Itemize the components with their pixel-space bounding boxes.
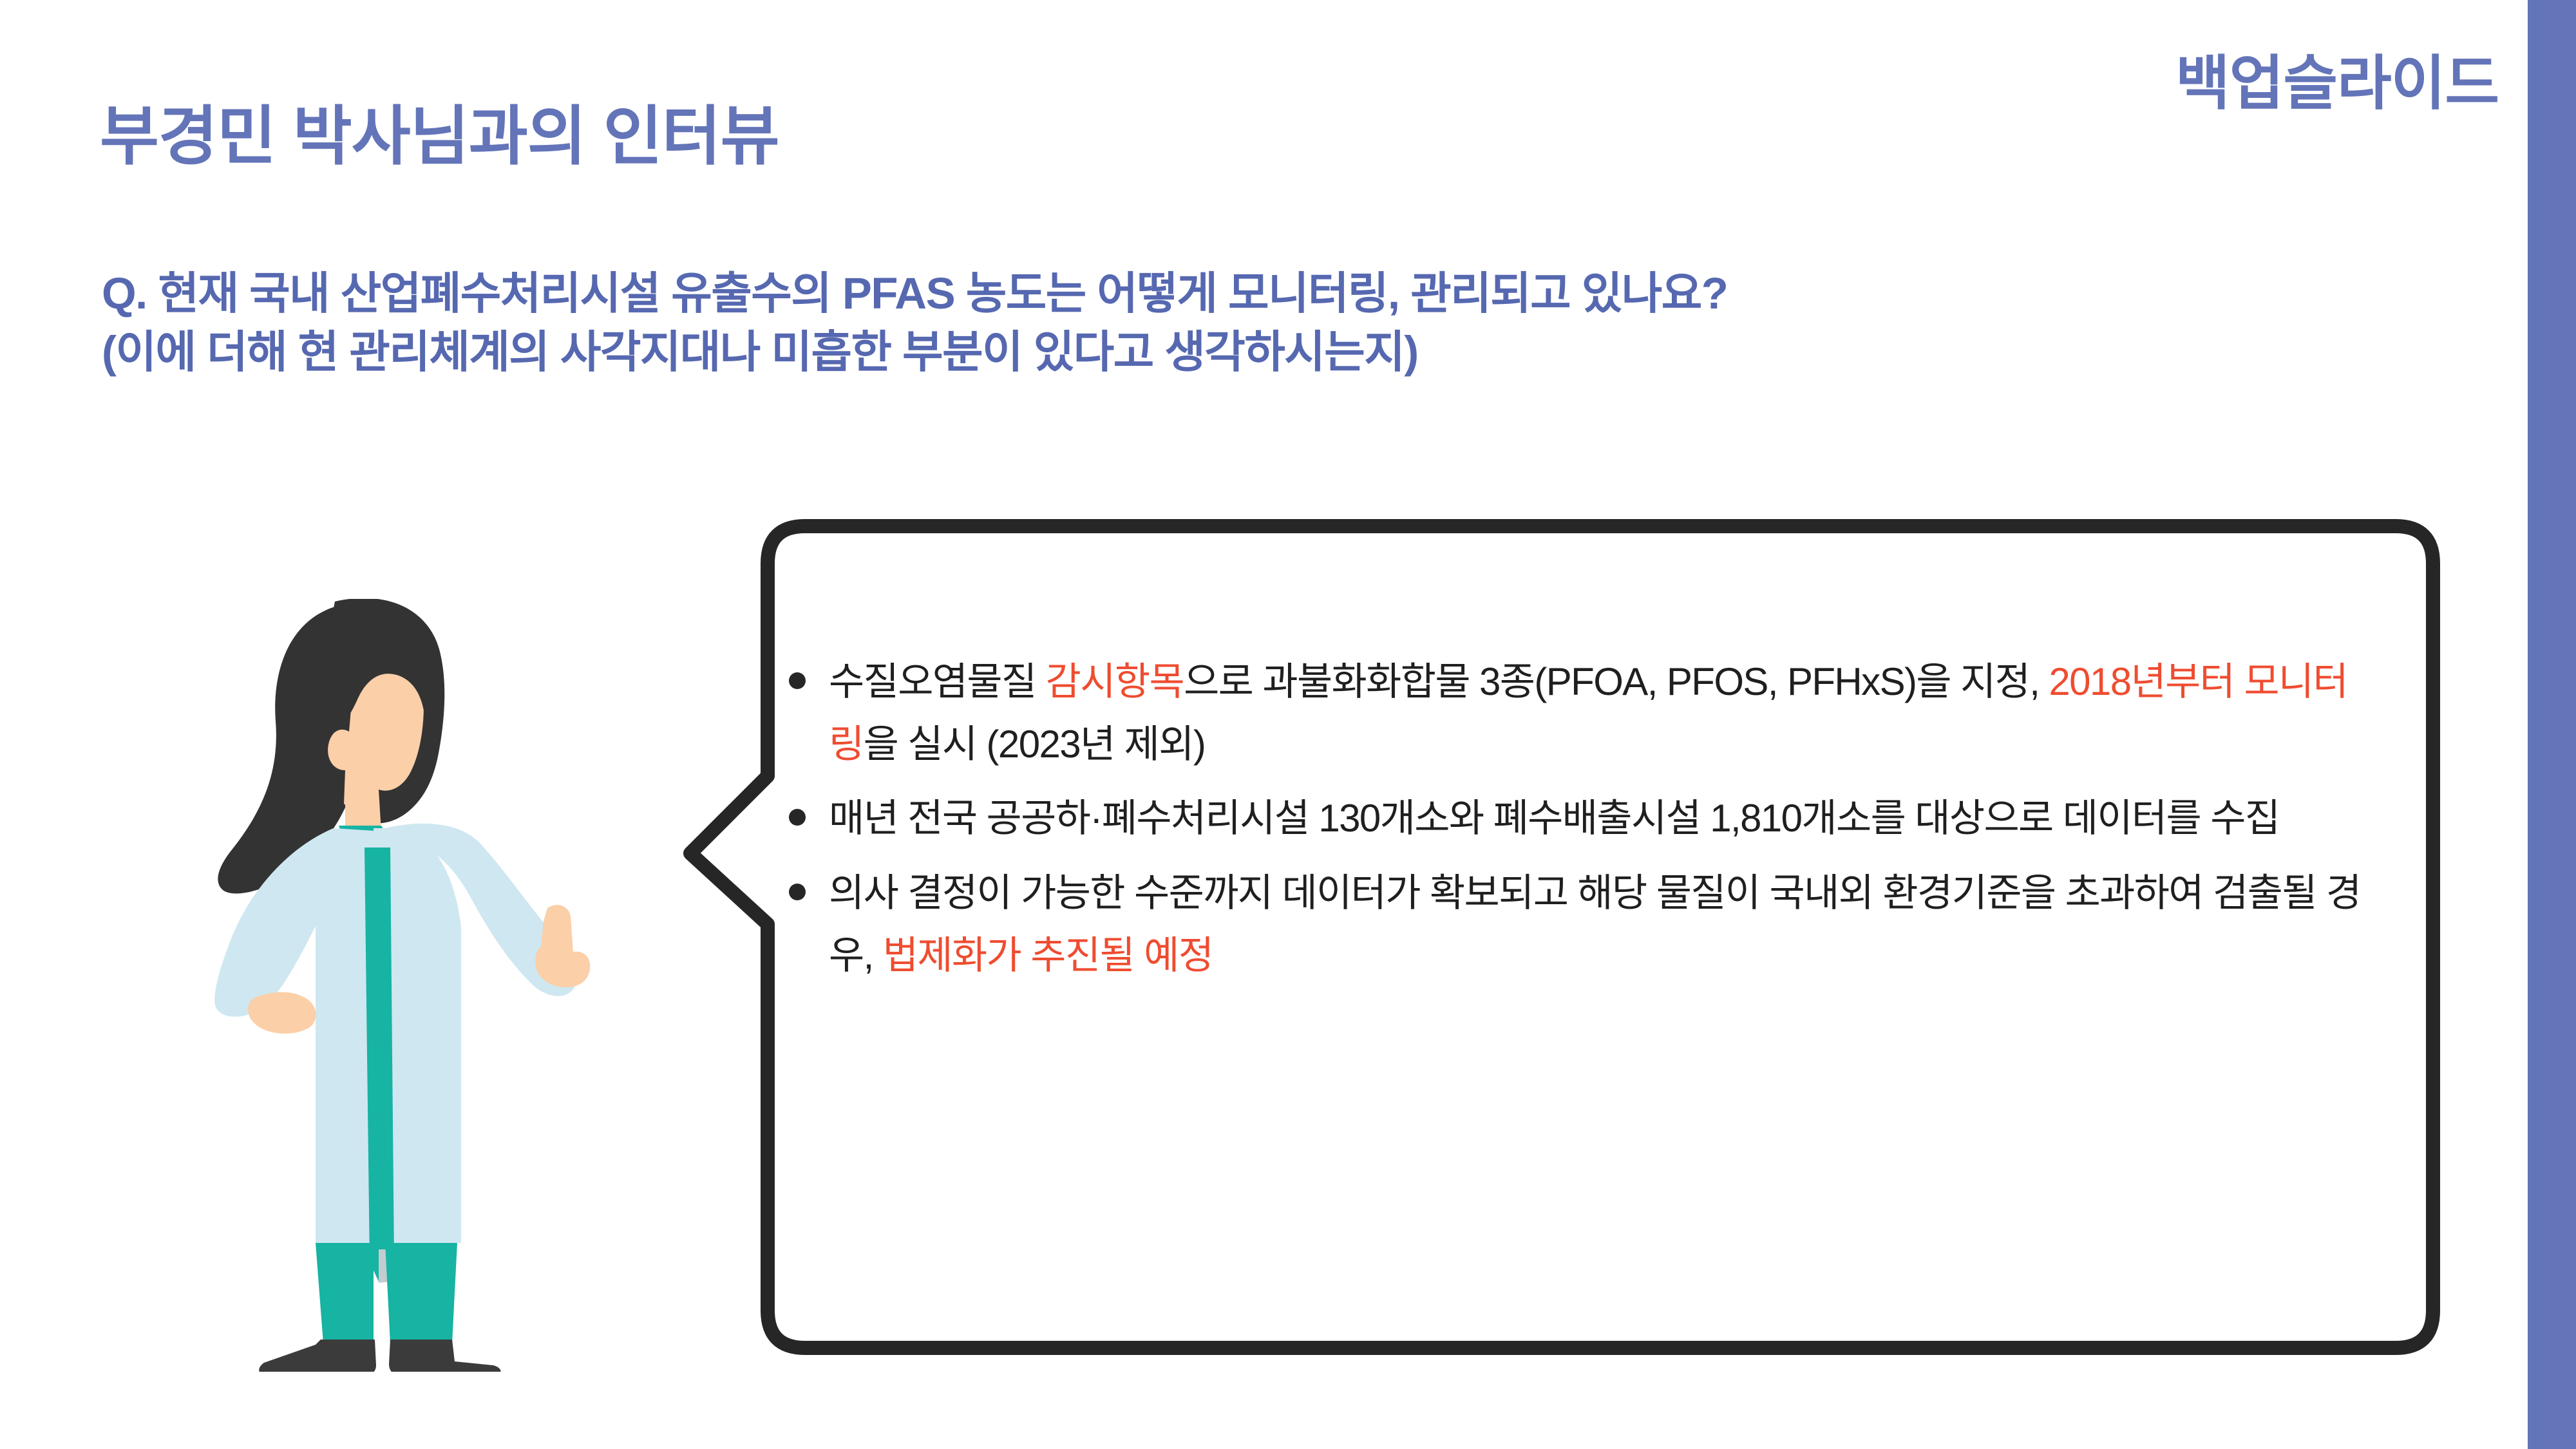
bullet-dot-icon xyxy=(789,884,806,900)
bullet-text-2: 매년 전국 공공하·폐수처리시설 130개소와 폐수배출시설 1,810개소를 … xyxy=(829,787,2373,849)
highlighted-phrase: 감시항목 xyxy=(1046,660,1184,703)
bullet-text-1: 수질오염물질 감시항목으로 과불화화합물 3종(PFOA, PFOS, PFHx… xyxy=(829,650,2373,775)
plain-phrase: 을 실시 (2023년 제외) xyxy=(864,723,1206,766)
plain-phrase: 으로 과불화화합물 3종(PFOA, PFOS, PFHxS)을 지정, xyxy=(1184,660,2049,703)
bullet-dot-icon xyxy=(789,672,806,689)
backup-slide-label: 백업슬라이드 xyxy=(2175,35,2499,121)
right-shoe-shape xyxy=(389,1340,501,1372)
left-shoe-shape xyxy=(259,1340,376,1372)
slide-canvas: 부경민 박사님과의 인터뷰 백업슬라이드 Q. 현재 국내 산업폐수처리시설 유… xyxy=(0,0,2576,1449)
bubble-bullet-list: 수질오염물질 감시항목으로 과불화화합물 3종(PFOA, PFOS, PFHx… xyxy=(789,650,2373,998)
speech-bubble: 수질오염물질 감시항목으로 과불화화합물 3종(PFOA, PFOS, PFHx… xyxy=(683,518,2441,1356)
highlighted-phrase: 법제화가 추진될 예정 xyxy=(883,934,1213,977)
plain-phrase: 매년 전국 공공하·폐수처리시설 130개소와 폐수배출시설 1,810개소를 … xyxy=(829,797,2279,840)
plain-phrase: 수질오염물질 xyxy=(829,660,1046,703)
question-line-2: (이에 더해 현 관리체계의 사각지대나 미흡한 부분이 있다고 생각하시는지) xyxy=(102,323,1727,381)
scientist-illustration xyxy=(213,599,612,1372)
bullet-dot-icon xyxy=(789,809,806,826)
list-item: 수질오염물질 감시항목으로 과불화화합물 3종(PFOA, PFOS, PFHx… xyxy=(789,650,2373,775)
right-trouser-shape xyxy=(385,1243,457,1343)
list-item: 의사 결정이 가능한 수준까지 데이터가 확보되고 해당 물질이 국내외 환경기… xyxy=(789,862,2373,987)
question-block: Q. 현재 국내 산업폐수처리시설 유출수의 PFAS 농도는 어떻게 모니터링… xyxy=(102,264,1727,381)
right-hand-pointing-shape xyxy=(535,905,590,987)
right-accent-bar xyxy=(2528,0,2576,1449)
page-title: 부경민 박사님과의 인터뷰 xyxy=(100,84,779,177)
left-trouser-shape xyxy=(316,1243,374,1343)
left-hand-shape xyxy=(248,992,316,1034)
list-item: 매년 전국 공공하·폐수처리시설 130개소와 폐수배출시설 1,810개소를 … xyxy=(789,787,2373,849)
bullet-text-3: 의사 결정이 가능한 수준까지 데이터가 확보되고 해당 물질이 국내외 환경기… xyxy=(829,862,2373,987)
question-line-1: Q. 현재 국내 산업폐수처리시설 유출수의 PFAS 농도는 어떻게 모니터링… xyxy=(102,264,1727,323)
